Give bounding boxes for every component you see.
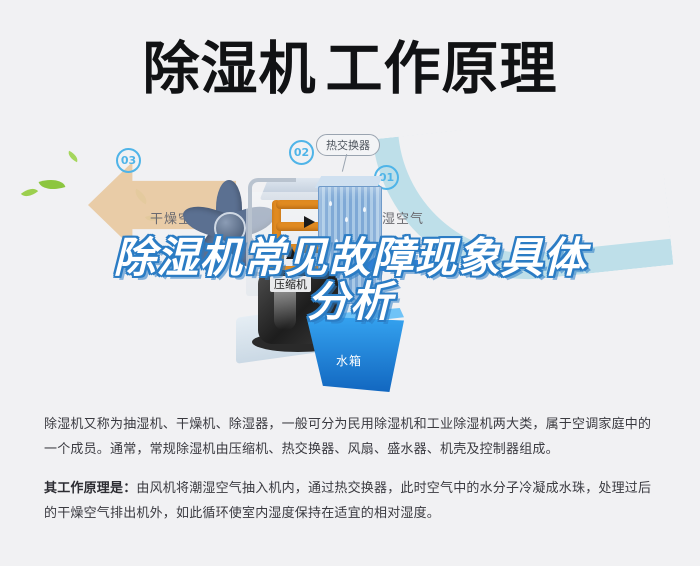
paragraph-2-rest: 由风机将潮湿空气抽入机内，通过热交换器，此时空气中的水分子冷凝成水珠，处理过后的… <box>44 481 651 521</box>
paragraph-1: 除湿机又称为抽湿机、干燥机、除湿器，一般可分为民用除湿机和工业除湿机两大类，属于… <box>44 412 658 462</box>
leaf-icon <box>39 175 66 195</box>
flow-arrow-up-icon <box>286 248 298 259</box>
page-title: 除湿机工作原理 <box>0 28 700 110</box>
paragraph-2: 其工作原理是：由风机将潮湿空气抽入机内，通过热交换器，此时空气中的水分子冷凝成水… <box>44 476 658 526</box>
compressor-label: 压缩机 <box>270 276 311 292</box>
leaf-icon <box>66 151 80 162</box>
heat-exchanger-callout: 热交换器 <box>316 134 380 156</box>
water-droplet-icon <box>345 217 348 222</box>
title-text: 除湿机工作原理 <box>143 41 558 98</box>
diagram-stage: 03 干燥空气 01 潮湿空气 02 热交换器 <box>0 120 700 400</box>
copper-valve <box>262 242 284 272</box>
leaf-icon <box>21 184 38 201</box>
badge-03-dry-air: 03 <box>116 148 141 173</box>
water-droplet-icon <box>363 207 366 212</box>
title-part-1: 除湿机 <box>143 36 317 102</box>
legend-list: 01 潮湿空气由下部进风口吸入机内 02 潮湿空气经过蒸发器冷凝成水珠 03 从… <box>392 378 692 400</box>
water-tank-label: 水箱 <box>336 352 362 369</box>
flow-arrow-right-icon <box>304 216 315 228</box>
water-droplet-icon <box>335 239 338 244</box>
article-body: 除湿机又称为抽湿机、干燥机、除湿器，一般可分为民用除湿机和工业除湿机两大类，属于… <box>44 412 658 540</box>
copper-pipe-horizontal <box>276 200 322 209</box>
water-droplet-icon <box>329 201 332 206</box>
paragraph-2-lead: 其工作原理是： <box>44 481 136 496</box>
copper-pipe-horizontal <box>276 222 322 231</box>
air-inlet-arrow <box>378 260 418 271</box>
page-root: 除湿机工作原理 03 干燥空气 01 潮湿空气 02 热交换器 <box>0 0 700 566</box>
fan-hub <box>214 212 246 244</box>
title-part-2: 工作原理 <box>326 36 558 102</box>
water-droplet-icon <box>357 253 360 258</box>
water-droplet-icon <box>367 283 370 288</box>
